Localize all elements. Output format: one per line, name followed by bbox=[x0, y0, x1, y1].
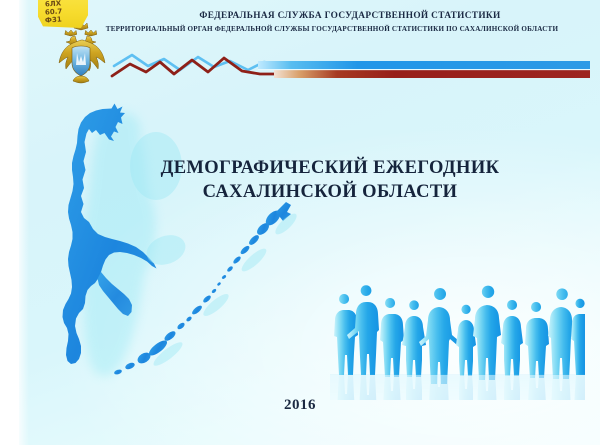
logo-blue-bar bbox=[258, 61, 590, 69]
sakhalin-kuril-islands-map bbox=[48, 100, 323, 390]
book-cover: ФЕДЕРАЛЬНАЯ СЛУЖБА ГОСУДАРСТВЕННОЙ СТАТИ… bbox=[0, 0, 600, 445]
sticker-line-3: Ф31 bbox=[45, 15, 62, 24]
logo-white-stripe bbox=[258, 69, 590, 70]
logo-red-bar bbox=[274, 70, 590, 78]
people-crowd-silhouettes bbox=[330, 278, 585, 400]
organization-title-line1: ФЕДЕРАЛЬНАЯ СЛУЖБА ГОСУДАРСТВЕННОЙ СТАТИ… bbox=[110, 11, 590, 21]
title-line-2: САХАЛИНСКОЙ ОБЛАСТИ bbox=[140, 180, 520, 204]
organization-title-line2: ТЕРРИТОРИАЛЬНЫЙ ОРГАН ФЕДЕРАЛЬНОЙ СЛУЖБЫ… bbox=[72, 25, 592, 33]
page-title: ДЕМОГРАФИЧЕСКИЙ ЕЖЕГОДНИК САХАЛИНСКОЙ ОБ… bbox=[140, 156, 520, 205]
publication-year: 2016 bbox=[0, 397, 600, 414]
library-call-number-sticker: 6ЛХ 60.7 Ф31 bbox=[38, 0, 88, 28]
rosstat-chart-tricolor-logo bbox=[108, 50, 590, 84]
title-line-1: ДЕМОГРАФИЧЕСКИЙ ЕЖЕГОДНИК bbox=[161, 158, 500, 178]
